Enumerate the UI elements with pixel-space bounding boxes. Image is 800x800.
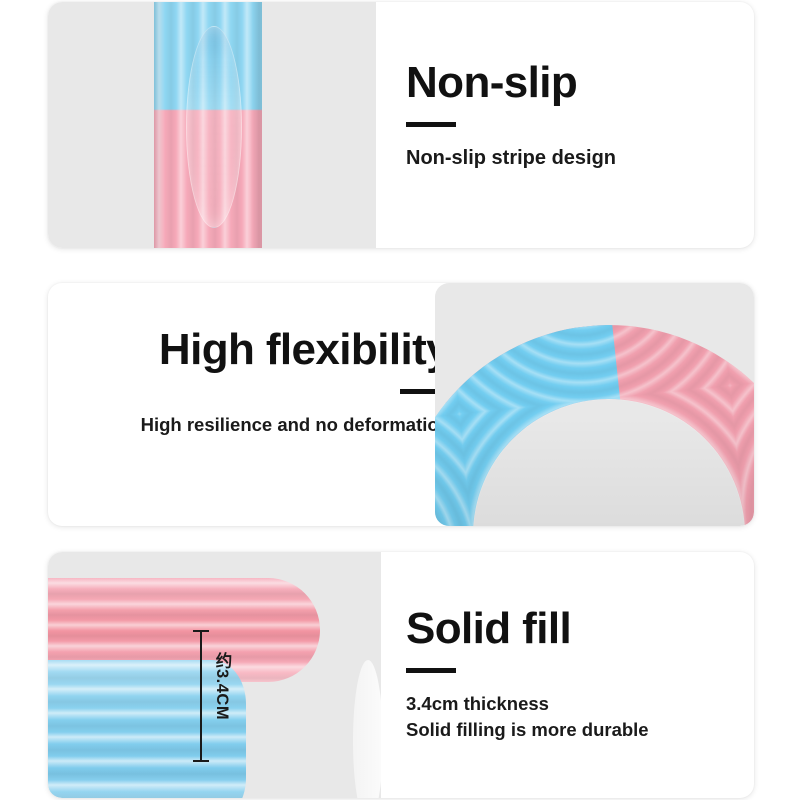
image-foam-roller-bent-arc (435, 283, 754, 526)
panel-subline: Non-slip stripe design (406, 145, 736, 173)
roller-edge-right (250, 2, 262, 248)
panel-subline-durable: Solid filling is more durable (406, 717, 736, 743)
panel-subline: High resilience and no deformation (110, 412, 450, 438)
panel-high-flexibility: High flexibility High resilience and no … (48, 283, 754, 526)
dimension-cap-bottom (193, 760, 209, 762)
panel-solid-fill: 约3.4CM Solid fill 3.4cm thickness Solid … (48, 552, 754, 798)
arc-ribs (435, 304, 754, 526)
panel-headline: Solid fill (406, 606, 736, 652)
roller-oval-highlight (186, 26, 242, 228)
arc-container (435, 283, 754, 526)
image-foam-roller-cross-section: 约3.4CM (48, 552, 381, 798)
dimension-line: 约3.4CM (200, 630, 202, 762)
dimension-label: 约3.4CM (210, 652, 234, 720)
panel-subline-thickness: 3.4cm thickness (406, 691, 736, 717)
tube-blue-end-cap (353, 660, 381, 798)
panel-headline: Non-slip (406, 60, 736, 106)
text-block-high-flexibility: High flexibility High resilience and no … (110, 327, 450, 438)
headline-divider (406, 668, 456, 673)
text-block-solid-fill: Solid fill 3.4cm thickness Solid filling… (406, 606, 736, 742)
roller-edge-left (154, 2, 164, 248)
text-block-non-slip: Non-slip Non-slip stripe design (406, 60, 736, 173)
product-infographic: Non-slip Non-slip stripe design High fle… (0, 0, 800, 800)
panel-non-slip: Non-slip Non-slip stripe design (48, 2, 754, 248)
panel-headline: High flexibility (110, 327, 450, 373)
image-foam-roller-vertical-stripes (48, 2, 376, 248)
dimension-cap-top (193, 630, 209, 632)
roller-body-vertical (154, 2, 262, 248)
headline-divider (406, 122, 456, 127)
